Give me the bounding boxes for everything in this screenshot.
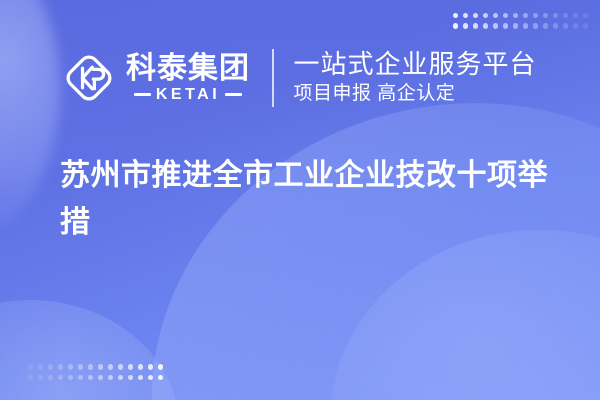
grid-dot bbox=[78, 364, 83, 369]
grid-dot bbox=[88, 364, 93, 369]
grid-dot bbox=[118, 375, 123, 380]
grid-dot bbox=[533, 13, 538, 18]
brand-rule-right-icon bbox=[225, 93, 242, 96]
grid-dot bbox=[98, 364, 103, 369]
grid-dot bbox=[138, 364, 143, 369]
page-title: 苏州市推进全市工业企业技改十项举措 bbox=[60, 152, 560, 247]
grid-dot bbox=[108, 375, 113, 380]
grid-dot bbox=[453, 13, 458, 18]
banner-header: 科泰集团 KETAI 一站式企业服务平台 项目申报 高企认定 bbox=[0, 44, 600, 112]
grid-dot bbox=[583, 13, 588, 18]
grid-dot bbox=[108, 364, 113, 369]
brand-logo[interactable]: 科泰集团 KETAI bbox=[62, 51, 250, 105]
grid-dot bbox=[533, 23, 538, 28]
grid-dot bbox=[583, 23, 588, 28]
brand-wordmark: 科泰集团 KETAI bbox=[126, 53, 250, 103]
grid-dot bbox=[483, 23, 488, 28]
grid-dot bbox=[78, 375, 83, 380]
dot-grid-row bbox=[453, 13, 588, 18]
grid-dot bbox=[463, 13, 468, 18]
grid-dot bbox=[88, 375, 93, 380]
grid-dot bbox=[58, 375, 63, 380]
dot-grid-row bbox=[28, 364, 163, 369]
header-divider bbox=[272, 49, 274, 107]
grid-dot bbox=[128, 375, 133, 380]
grid-dot bbox=[28, 364, 33, 369]
grid-dot bbox=[513, 23, 518, 28]
grid-dot bbox=[513, 13, 518, 18]
grid-dot bbox=[563, 23, 568, 28]
brand-rule-left-icon bbox=[134, 93, 151, 96]
grid-dot bbox=[68, 375, 73, 380]
grid-dot bbox=[28, 375, 33, 380]
slogan-primary: 一站式企业服务平台 bbox=[294, 49, 537, 80]
background-swoosh-left bbox=[0, 0, 60, 240]
grid-dot bbox=[493, 23, 498, 28]
dot-grid-row bbox=[453, 23, 588, 28]
dot-grid-row bbox=[28, 375, 163, 380]
grid-dot bbox=[483, 13, 488, 18]
grid-dot bbox=[118, 364, 123, 369]
grid-dot bbox=[38, 375, 43, 380]
brand-name-en-row: KETAI bbox=[134, 87, 242, 103]
grid-dot bbox=[48, 364, 53, 369]
grid-dot bbox=[553, 13, 558, 18]
grid-dot bbox=[68, 364, 73, 369]
grid-dot bbox=[148, 375, 153, 380]
dot-grid-top-right bbox=[453, 13, 588, 29]
grid-dot bbox=[473, 23, 478, 28]
grid-dot bbox=[573, 23, 578, 28]
promo-banner: 科泰集团 KETAI 一站式企业服务平台 项目申报 高企认定 苏州市推进全市工业… bbox=[0, 0, 600, 400]
grid-dot bbox=[128, 364, 133, 369]
grid-dot bbox=[138, 375, 143, 380]
ketai-diamond-kp-logo-icon bbox=[62, 51, 116, 105]
grid-dot bbox=[463, 23, 468, 28]
grid-dot bbox=[573, 13, 578, 18]
grid-dot bbox=[523, 13, 528, 18]
grid-dot bbox=[453, 23, 458, 28]
grid-dot bbox=[543, 13, 548, 18]
grid-dot bbox=[38, 364, 43, 369]
grid-dot bbox=[58, 364, 63, 369]
grid-dot bbox=[503, 13, 508, 18]
grid-dot bbox=[563, 13, 568, 18]
background-blob-bottom-left bbox=[0, 300, 180, 400]
grid-dot bbox=[148, 364, 153, 369]
grid-dot bbox=[553, 23, 558, 28]
dot-grid-bottom-left bbox=[28, 364, 163, 380]
grid-dot bbox=[493, 13, 498, 18]
grid-dot bbox=[503, 23, 508, 28]
grid-dot bbox=[48, 375, 53, 380]
grid-dot bbox=[158, 364, 163, 369]
brand-name-en: KETAI bbox=[156, 87, 220, 103]
grid-dot bbox=[523, 23, 528, 28]
brand-name-cn: 科泰集团 bbox=[126, 53, 250, 85]
slogan-secondary: 项目申报 高企认定 bbox=[294, 82, 537, 107]
grid-dot bbox=[543, 23, 548, 28]
grid-dot bbox=[473, 13, 478, 18]
grid-dot bbox=[98, 375, 103, 380]
grid-dot bbox=[158, 375, 163, 380]
slogan-block: 一站式企业服务平台 项目申报 高企认定 bbox=[294, 49, 537, 106]
